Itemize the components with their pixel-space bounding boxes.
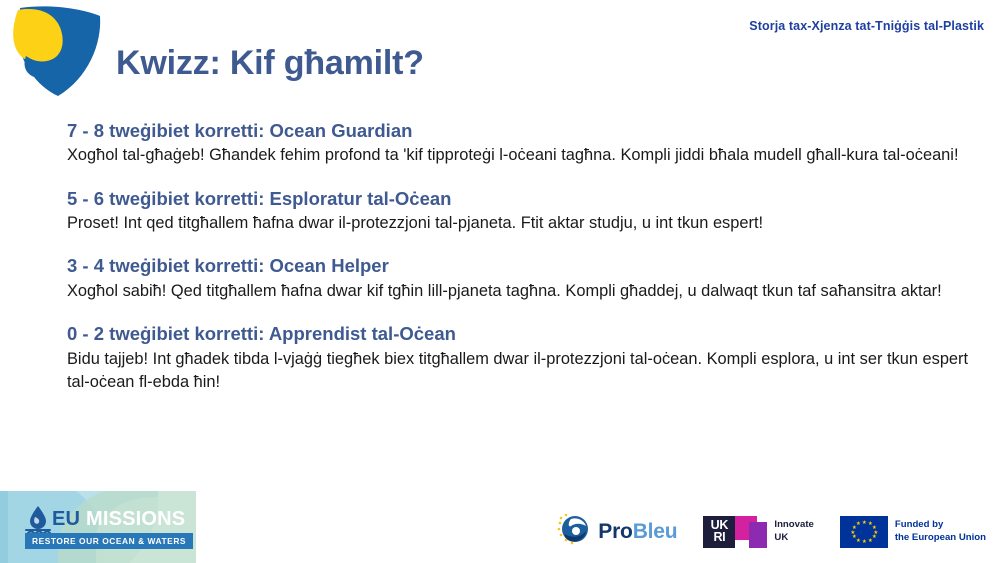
- eu-funding-label: Funded by the European Union: [895, 519, 986, 545]
- innovate-uk-label: Innovate UK: [774, 519, 813, 544]
- result-body: Xogħol sabiħ! Qed titgħallem ħafna dwar …: [67, 280, 973, 303]
- ukri-block-purple: [749, 522, 767, 548]
- result-heading: 7 - 8 tweġibiet korretti: Ocean Guardian: [67, 119, 973, 143]
- innovate-uk-line2: UK: [774, 532, 788, 543]
- ukri-mark-line2: RI: [713, 532, 725, 544]
- innovate-uk-line1: Innovate: [774, 519, 813, 530]
- eu-flag-icon: ★ ★ ★ ★ ★ ★ ★ ★ ★ ★ ★ ★: [840, 516, 888, 548]
- probleu-word-pro: Pro: [598, 520, 632, 543]
- probleu-word-bleu: Bleu: [633, 520, 678, 543]
- result-body: Xogħol tal-għaġeb! Għandek fehim profond…: [67, 144, 973, 167]
- result-block: 5 - 6 tweġibiet korretti: Esploratur tal…: [67, 187, 973, 236]
- result-block: 3 - 4 tweġibiet korretti: Ocean Helper X…: [67, 254, 973, 303]
- eu-missions-logo: EU MISSIONS RESTORE OUR OCEAN & WATERS: [0, 491, 196, 563]
- ukri-color-blocks: [735, 516, 767, 548]
- eu-missions-subtitle: RESTORE OUR OCEAN & WATERS: [25, 533, 193, 549]
- document-header-title: Storja tax-Xjenza tat-Tniġġis tal-Plasti…: [749, 19, 984, 33]
- page-title: Kwizz: Kif għamilt?: [116, 44, 424, 83]
- results-list: 7 - 8 tweġibiet korretti: Ocean Guardian…: [67, 119, 973, 394]
- ukri-mark: UK RI: [703, 516, 767, 548]
- eu-missions-title-missions: MISSIONS: [86, 508, 185, 530]
- slide-canvas: Storja tax-Xjenza tat-Tniġġis tal-Plasti…: [0, 0, 1000, 563]
- probleu-logo: ProBleu: [557, 512, 677, 551]
- water-drop-icon: [24, 505, 52, 535]
- brand-logo-mark: [6, 0, 110, 104]
- probleu-wordmark: ProBleu: [598, 520, 677, 544]
- result-heading: 5 - 6 tweġibiet korretti: Esploratur tal…: [67, 187, 973, 211]
- result-heading: 3 - 4 tweġibiet korretti: Ocean Helper: [67, 254, 973, 278]
- result-block: 0 - 2 tweġibiet korretti: Apprendist tal…: [67, 322, 973, 394]
- eu-missions-title: EU MISSIONS: [52, 508, 185, 531]
- result-block: 7 - 8 tweġibiet korretti: Ocean Guardian…: [67, 119, 973, 168]
- eu-funding-logo: ★ ★ ★ ★ ★ ★ ★ ★ ★ ★ ★ ★ Funded by the Eu…: [840, 516, 986, 548]
- ukri-square-icon: UK RI: [703, 516, 735, 548]
- eu-funding-line2: the European Union: [895, 532, 986, 543]
- eu-funding-line1: Funded by: [895, 519, 944, 530]
- footer-logo-row: ProBleu UK RI Innovate UK ★ ★: [557, 512, 986, 551]
- eu-missions-title-eu: EU: [52, 508, 80, 530]
- result-body: Proset! Int qed titgħallem ħafna dwar il…: [67, 212, 973, 235]
- result-heading: 0 - 2 tweġibiet korretti: Apprendist tal…: [67, 322, 973, 346]
- probleu-globe-icon: [557, 512, 591, 551]
- result-body: Bidu tajjeb! Int għadek tibda l-vjaġġ ti…: [67, 348, 973, 395]
- ukri-innovate-uk-logo: UK RI Innovate UK: [703, 516, 813, 548]
